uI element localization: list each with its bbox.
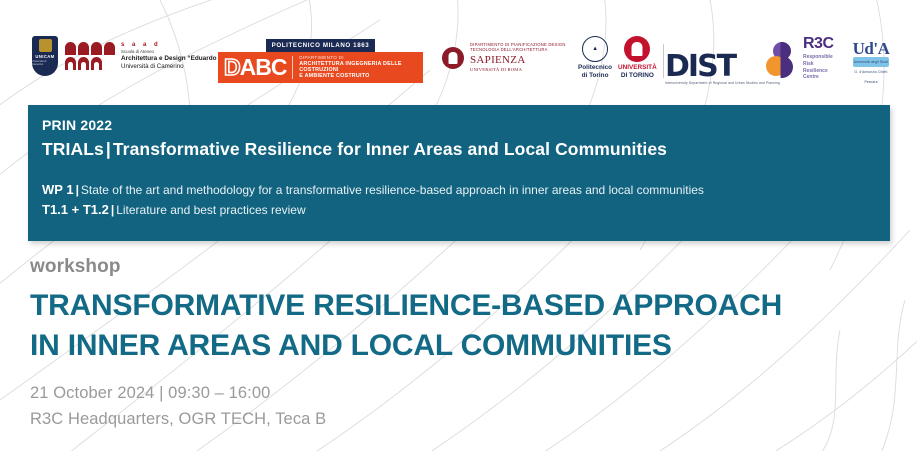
uda-wordmark: Ud'A (848, 39, 894, 59)
event-title: TRANSFORMATIVE RESILIENCE-BASED APPROACH… (30, 286, 782, 366)
unicam-crest-icon (39, 39, 52, 52)
unito-label-line-2: DI TORINO (618, 72, 657, 80)
logo-universita-torino: UNIVERSITÀ DI TORINO (618, 36, 657, 79)
r3c-wordmark: R3C (803, 36, 834, 52)
polito-label-line-2: di Torino (578, 72, 612, 80)
logo-dabc-polimi: POLITECNICO MILANO 1863 DABC DIPARTIMENT… (218, 39, 423, 83)
banner-prin-label: PRIN 2022 (42, 117, 876, 133)
dabc-top-bar: POLITECNICO MILANO 1863 (266, 39, 376, 52)
dabc-letters: DABC (224, 56, 286, 79)
dabc-desc-line-2: ARCHITETTURA INGEGNERIA DELLE COSTRUZION… (299, 61, 417, 74)
banner-wp-label: WP 1 (42, 182, 74, 197)
event-meta: 21 October 2024 | 09:30 – 16:00 R3C Head… (30, 381, 326, 432)
project-banner: PRIN 2022 TRIALs|Transformative Resilien… (28, 105, 890, 241)
banner-project-title: TRIALs|Transformative Resilience for Inn… (42, 139, 876, 160)
dabc-letter-d: D (224, 54, 240, 80)
uda-ribbon-text: Università degli Studi G. d'Annunzio Chi… (853, 57, 889, 67)
banner-project-acronym: TRIALs (42, 139, 104, 159)
event-date-time: 21 October 2024 | 09:30 – 16:00 (30, 381, 326, 407)
unicam-shield-sub: Università di Camerino (32, 60, 58, 66)
event-title-line-2: IN INNER AREAS AND LOCAL COMMUNITIES (30, 326, 782, 366)
r3c-line-3: Resilience (803, 68, 834, 75)
r3c-line-1: Responsible (803, 54, 834, 61)
universita-torino-label: UNIVERSITÀ DI TORINO (618, 64, 657, 79)
r3c-line-4: Centre (803, 74, 834, 81)
banner-task-line: T1.1 + T1.2|Literature and best practice… (42, 202, 876, 217)
logo-dist: DIST Interuniversity Department of Regio… (665, 53, 780, 85)
r3c-tagline: Responsible Risk Resilience Centre (803, 54, 834, 81)
dabc-divider (292, 56, 293, 79)
r3c-glyph-icon (765, 40, 799, 78)
event-title-line-1: TRANSFORMATIVE RESILIENCE-BASED APPROACH (30, 286, 782, 326)
unicam-wordmark: UNICAM (35, 54, 54, 59)
logo-unicam-sad: UNICAM Università di Camerino s a a d Sc… (32, 36, 243, 76)
sapienza-wordmark: SAPIENZA (470, 53, 566, 67)
event-venue: R3C Headquarters, OGR TECH, Teca B (30, 407, 326, 433)
banner-wp-separator: | (74, 183, 81, 197)
sapienza-seal-icon (442, 47, 464, 69)
dabc-letters-abc: ABC (240, 54, 287, 80)
dabc-body: DABC DIPARTIMENTO DI ARCHITETTURA INGEGN… (218, 52, 423, 83)
politecnico-torino-seal-icon: ▲ (582, 36, 608, 62)
polito-label-line-1: Politecnico (578, 64, 612, 72)
sapienza-text-block: DIPARTIMENTO DI PIANIFICAZIONE DESIGN TE… (470, 42, 566, 73)
poster-canvas: UNICAM Università di Camerino s a a d Sc… (0, 0, 917, 451)
dabc-desc-line-1: DIPARTIMENTO DI (299, 55, 417, 61)
partner-logo-strip: UNICAM Università di Camerino s a a d Sc… (0, 30, 917, 92)
universita-torino-seal-icon (624, 36, 650, 62)
banner-task-text: Literature and best practices review (116, 203, 305, 217)
banner-wp-text: State of the art and methodology for a t… (81, 183, 704, 197)
logo-r3c: R3C Responsible Risk Resilience Centre (765, 36, 834, 81)
unito-label-line-1: UNIVERSITÀ (618, 64, 657, 72)
sad-arch-icon (65, 42, 115, 70)
r3c-line-2: Risk (803, 61, 834, 68)
dabc-description: DIPARTIMENTO DI ARCHITETTURA INGEGNERIA … (299, 55, 417, 80)
logo-uda: Ud'A Università degli Studi G. d'Annunzi… (848, 34, 894, 76)
logo-sapienza: DIPARTIMENTO DI PIANIFICAZIONE DESIGN TE… (442, 42, 566, 73)
banner-project-name: Transformative Resilience for Inner Area… (113, 139, 667, 159)
dist-wordmark: DIST (665, 53, 735, 80)
politecnico-torino-label: Politecnico di Torino (578, 64, 612, 79)
unicam-shield-icon: UNICAM Università di Camerino (32, 36, 58, 76)
dist-subtitle: Interuniversity Department of Regional a… (665, 81, 780, 85)
r3c-text-block: R3C Responsible Risk Resilience Centre (803, 36, 834, 81)
workshop-kicker: workshop (30, 256, 121, 278)
dabc-desc-line-3: E AMBIENTE COSTRUITO (299, 73, 417, 79)
banner-task-label: T1.1 + T1.2 (42, 202, 109, 217)
sapienza-sub: UNIVERSITÀ DI ROMA (470, 67, 566, 73)
banner-wp-line: WP 1|State of the art and methodology fo… (42, 182, 876, 197)
uda-crest-icon: Ud'A Università degli Studi G. d'Annunzi… (848, 34, 894, 76)
banner-project-separator: | (104, 139, 113, 159)
logo-politecnico-torino: ▲ Politecnico di Torino (578, 36, 612, 79)
